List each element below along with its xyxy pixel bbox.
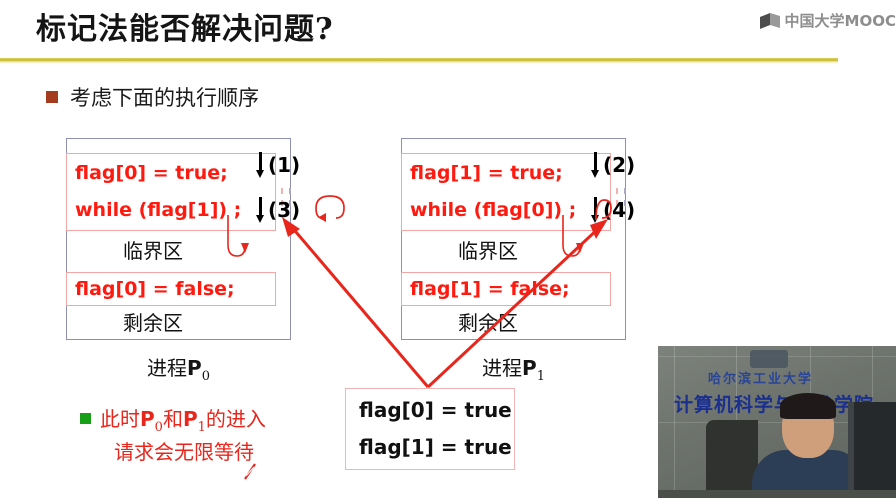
flag-state-box: flag[0] = true flag[1] = true — [345, 388, 515, 470]
conclusion-p0-symbol: P — [140, 407, 155, 431]
conclusion-text: 此时P0和P1的进入 请求会无限等待 — [100, 405, 266, 467]
page-title: 标记法能否解决问题? — [36, 4, 334, 48]
process-label-symbol: P — [187, 356, 202, 380]
remainder-section-label-p0: 剩余区 — [123, 307, 183, 336]
conclusion-p0-subscript: 0 — [155, 420, 163, 435]
mooc-book-icon — [760, 13, 782, 29]
slide-canvas: 标记法能否解决问题? 中国大学MOOC 考虑下面的执行顺序 flag[0] = … — [0, 0, 896, 498]
square-bullet-icon — [46, 91, 58, 103]
bullet-label: 考虑下面的执行顺序 — [70, 82, 259, 112]
step-marker-1: (1) — [256, 152, 300, 178]
conclusion-block: 此时P0和P1的进入 请求会无限等待 — [80, 405, 266, 467]
deadlock-link-arrows — [270, 215, 640, 400]
conclusion-line1-part-a: 此时 — [100, 407, 140, 431]
pen-mark-icon — [243, 462, 259, 482]
instructor-figure — [754, 396, 862, 498]
video-banner-university: 哈尔滨工业大学 — [708, 368, 813, 387]
bullet-consider-order: 考虑下面的执行顺序 — [46, 82, 259, 112]
code-line-flag0-true: flag[0] = true; — [75, 162, 228, 184]
step-label-1: (1) — [268, 153, 300, 177]
conclusion-line-1: 此时P0和P1的进入 — [100, 405, 266, 438]
conclusion-line1-part-b: 和 — [163, 407, 183, 431]
process-label-p0: 进程P0 — [66, 352, 291, 384]
flag-state-line-1: flag[1] = true — [359, 435, 512, 459]
monitor-shape — [848, 402, 896, 498]
flag-state-line-0: flag[0] = true — [359, 398, 512, 422]
title-underline-rule — [0, 58, 838, 64]
mooc-logo-text: 中国大学MOOC — [785, 10, 896, 31]
step-marker-2: (2) — [591, 152, 635, 178]
square-bullet-green-icon — [80, 413, 91, 424]
desk-edge — [658, 490, 896, 498]
code-exit-section-p0: flag[0] = false; — [66, 272, 276, 306]
conclusion-line1-part-c: 的进入 — [206, 407, 266, 431]
code-line-flag0-false: flag[0] = false; — [75, 278, 235, 300]
conclusion-p1-subscript: 1 — [198, 420, 206, 435]
down-arrow-icon — [591, 152, 600, 178]
down-arrow-icon — [256, 152, 265, 178]
chair-shape — [706, 420, 758, 498]
instructor-video-overlay[interactable]: 哈尔滨工业大学 计算机科学与技术学院 — [658, 346, 896, 498]
step-label-2: (2) — [603, 153, 635, 177]
university-crest-icon — [750, 350, 788, 368]
process-label-prefix: 进程 — [147, 356, 187, 380]
down-arrow-icon — [256, 197, 265, 223]
instructor-hair — [780, 393, 836, 419]
red-flow-arrow-p0 — [215, 215, 249, 263]
critical-section-label-p0: 临界区 — [123, 235, 183, 264]
mooc-logo: 中国大学MOOC — [760, 10, 896, 31]
code-line-flag1-true: flag[1] = true; — [410, 162, 563, 184]
conclusion-p1-symbol: P — [183, 407, 198, 431]
process-label-subscript: 0 — [202, 369, 210, 384]
